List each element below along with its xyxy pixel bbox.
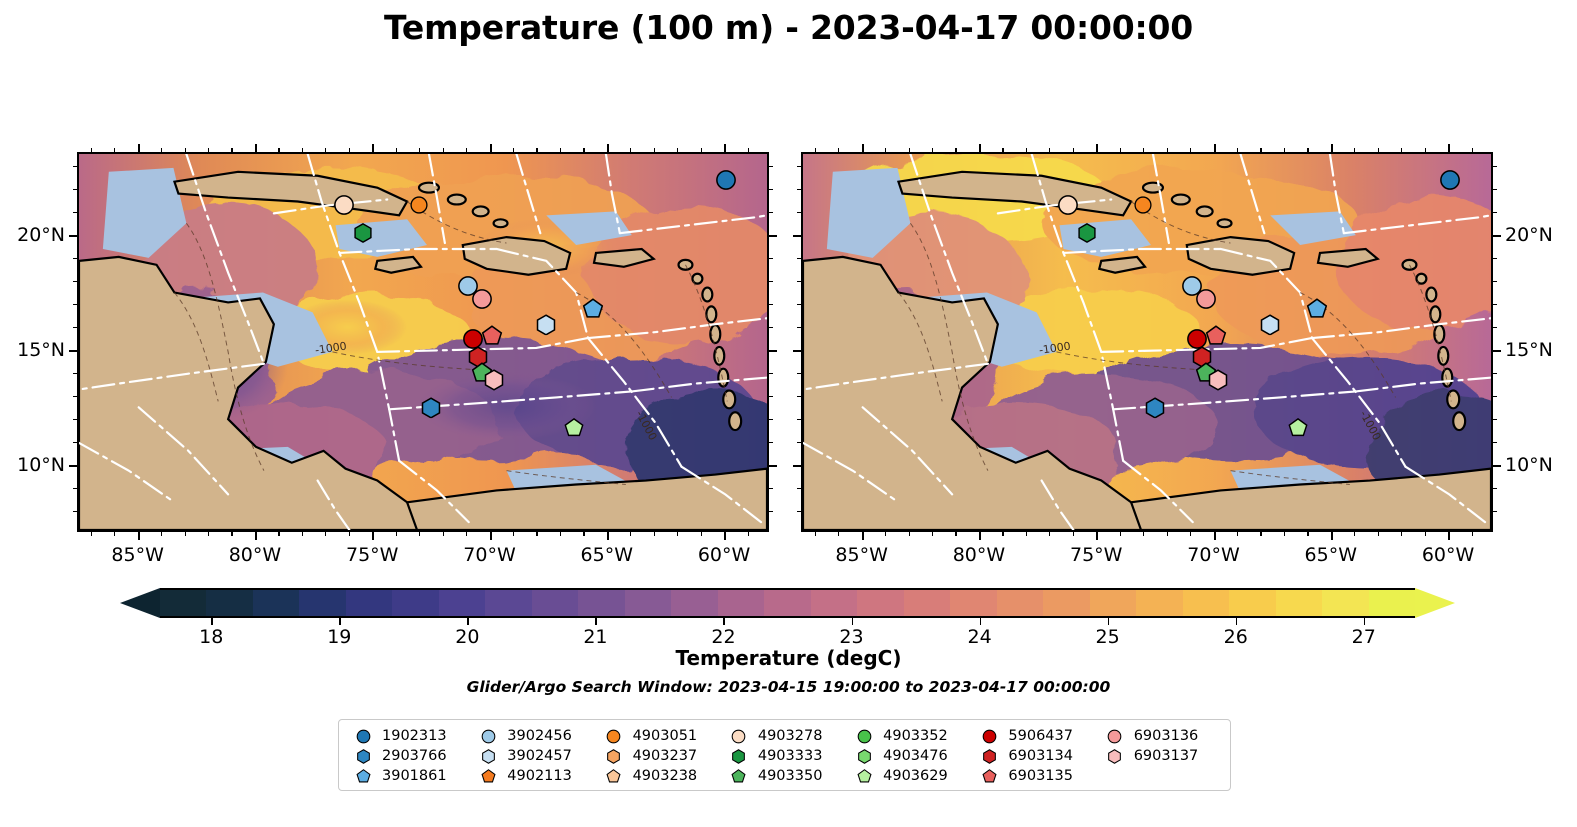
x-tick (1096, 144, 1098, 152)
float-marker-4903333[interactable] (1077, 222, 1097, 246)
legend-label: 5906437 (1008, 728, 1073, 744)
float-marker-4903278[interactable] (1057, 194, 1079, 220)
colorbar-tick-label: 24 (967, 626, 991, 648)
colorbar-extend-high (1415, 588, 1455, 618)
x-tick-minor (1049, 148, 1050, 152)
y-tick-minor (797, 304, 801, 305)
y-tick-minor (797, 488, 801, 489)
legend-label: 4902113 (507, 768, 572, 784)
legend-column: 490335249034764903629 (854, 726, 979, 786)
map-canvas-amseas: -1000 -1000 (803, 154, 1491, 530)
y-tick (769, 235, 777, 237)
map-canvas-rtofs: -1000 -1000 (79, 154, 767, 530)
x-tick-minor (443, 148, 444, 152)
x-tick-minor (654, 148, 655, 152)
y-tick (69, 235, 77, 237)
x-tick (372, 532, 374, 540)
x-axis-label: 70°W (463, 544, 515, 566)
float-legend: 1902313290376639018613902456390245749021… (338, 719, 1231, 791)
colorbar-segment (1322, 590, 1368, 616)
legend-entry-4903476[interactable]: 4903476 (854, 746, 979, 766)
colorbar-tick (339, 618, 341, 625)
x-axis-label: 80°W (229, 544, 281, 566)
colorbar-tick-label: 18 (199, 626, 223, 648)
x-tick-minor (302, 148, 303, 152)
x-tick-minor (1167, 532, 1168, 536)
x-tick (1214, 532, 1216, 540)
x-tick-minor (955, 532, 956, 536)
y-tick-minor (797, 419, 801, 420)
y-tick-minor (769, 212, 773, 213)
x-tick (607, 532, 609, 540)
x-tick-minor (349, 532, 350, 536)
y-tick (793, 465, 801, 467)
y-tick-minor (769, 281, 773, 282)
x-tick-minor (1401, 532, 1402, 536)
x-tick (372, 144, 374, 152)
y-tick-minor (73, 281, 77, 282)
x-tick-minor (955, 148, 956, 152)
x-tick (138, 532, 140, 540)
x-tick-minor (1002, 532, 1003, 536)
x-tick-minor (208, 148, 209, 152)
legend-marker-hexagon-icon (1105, 747, 1125, 765)
x-tick-minor (91, 148, 92, 152)
x-axis-label: 80°W (953, 544, 1005, 566)
float-marker-4903051[interactable] (1134, 196, 1153, 219)
colorbar-segment (1229, 590, 1275, 616)
x-tick (255, 144, 257, 152)
y-tick-minor (1493, 396, 1497, 397)
x-tick (1448, 144, 1450, 152)
x-tick-minor (1026, 148, 1027, 152)
x-tick (724, 144, 726, 152)
colorbar-tick (1236, 618, 1238, 625)
float-marker-3902457[interactable] (1259, 314, 1281, 340)
x-tick-minor (536, 532, 537, 536)
colorbar-segment (904, 590, 950, 616)
legend-marker-pentagon-icon (854, 767, 874, 785)
y-tick-minor (1493, 419, 1497, 420)
y-tick-minor (1493, 488, 1497, 489)
y-tick (793, 350, 801, 352)
x-tick-minor (583, 532, 584, 536)
legend-column: 490305149032374903238 (604, 726, 729, 786)
x-tick-minor (748, 532, 749, 536)
x-tick-minor (536, 148, 537, 152)
x-tick (724, 532, 726, 540)
colorbar-tick-label: 26 (1224, 626, 1248, 648)
y-tick-minor (1493, 166, 1497, 167)
float-marker-2903766[interactable] (1144, 397, 1166, 423)
legend-label: 6903137 (1134, 748, 1199, 764)
float-marker-4903278[interactable] (333, 194, 355, 220)
x-tick-minor (278, 532, 279, 536)
y-tick-minor (73, 189, 77, 190)
x-axis-label: 85°W (835, 544, 887, 566)
x-tick-minor (513, 148, 514, 152)
map-panel-rtofs[interactable]: RTOFS (77, 152, 769, 532)
x-axis-label: 75°W (1070, 544, 1122, 566)
x-tick (979, 532, 981, 540)
legend-entry-3901861[interactable]: 3901861 (353, 766, 478, 786)
colorbar-segment (1090, 590, 1136, 616)
colorbar-segment (206, 590, 252, 616)
legend-entry-4903237[interactable]: 4903237 (604, 746, 729, 766)
x-axis-label: 60°W (698, 544, 750, 566)
y-tick-minor (797, 442, 801, 443)
colorbar-tick (595, 618, 597, 625)
legend-column: 190231329037663901861 (353, 726, 478, 786)
float-marker-4903051[interactable] (410, 196, 429, 219)
float-marker-6903136[interactable] (472, 289, 494, 315)
float-marker-3901861[interactable] (582, 298, 604, 324)
legend-label: 3902456 (507, 728, 572, 744)
y-tick-minor (769, 327, 773, 328)
colorbar-segment (439, 590, 485, 616)
legend-marker-hexagon-icon (729, 747, 749, 765)
x-axis-label: 65°W (1305, 544, 1357, 566)
x-axis-label: 85°W (111, 544, 163, 566)
colorbar-segment (392, 590, 438, 616)
x-tick-minor (1073, 532, 1074, 536)
legend-label: 4903352 (883, 728, 948, 744)
colorbar-segment (1183, 590, 1229, 616)
legend-label: 3901861 (382, 768, 447, 784)
y-tick-minor (1493, 281, 1497, 282)
float-marker-6903137[interactable] (1207, 369, 1229, 395)
y-tick-minor (73, 304, 77, 305)
x-tick-minor (91, 532, 92, 536)
colorbar-extend-low (120, 588, 160, 618)
legend-label: 4903237 (633, 748, 698, 764)
y-tick-minor (797, 258, 801, 259)
x-tick-minor (1378, 532, 1379, 536)
map-panel-amseas[interactable]: AMSEAS (801, 152, 1493, 532)
legend-entry-6903136[interactable]: 6903136 (1105, 726, 1230, 746)
legend-marker-circle-icon (979, 727, 999, 745)
legend-marker-circle-icon (1105, 727, 1125, 745)
colorbar-tick (467, 618, 469, 625)
legend-marker-circle-icon (353, 727, 373, 745)
x-tick-minor (1190, 148, 1191, 152)
colorbar-tick (723, 618, 725, 625)
x-tick-minor (885, 148, 886, 152)
legend-entry-6903137[interactable]: 6903137 (1105, 746, 1230, 766)
y-tick-minor (73, 327, 77, 328)
x-tick-minor (1143, 532, 1144, 536)
legend-entry-6903135[interactable]: 6903135 (979, 766, 1104, 786)
legend-entry-4903350[interactable]: 4903350 (729, 766, 854, 786)
colorbar-tick-label: 20 (455, 626, 479, 648)
legend-entry-2903766[interactable]: 2903766 (353, 746, 478, 766)
colorbar-segment (485, 590, 531, 616)
legend-entry-5906437[interactable]: 5906437 (979, 726, 1104, 746)
x-tick-minor (885, 532, 886, 536)
x-tick-minor (231, 148, 232, 152)
x-tick-minor (701, 532, 702, 536)
x-tick (862, 532, 864, 540)
y-axis-label-left: 20°N (17, 224, 65, 246)
x-tick-minor (630, 532, 631, 536)
y-tick (69, 465, 77, 467)
x-tick (862, 144, 864, 152)
x-tick-minor (630, 148, 631, 152)
x-tick-minor (466, 532, 467, 536)
x-tick-minor (1237, 532, 1238, 536)
colorbar-segment (811, 590, 857, 616)
x-tick-minor (278, 148, 279, 152)
x-tick-minor (161, 148, 162, 152)
y-axis-label-right: 20°N (1505, 224, 1553, 246)
y-tick (69, 350, 77, 352)
x-tick-minor (325, 148, 326, 152)
legend-marker-hexagon-icon (478, 747, 498, 765)
legend-column: 390245639024574902113 (478, 726, 603, 786)
float-marker-6903136[interactable] (1196, 289, 1218, 315)
x-tick-minor (1378, 148, 1379, 152)
legend-label: 6903134 (1008, 748, 1073, 764)
legend-marker-circle-icon (729, 727, 749, 745)
x-tick-minor (1260, 532, 1261, 536)
legend-marker-circle-icon (604, 727, 624, 745)
x-tick-minor (560, 148, 561, 152)
x-tick-minor (185, 532, 186, 536)
y-tick-minor (797, 373, 801, 374)
float-marker-2903766[interactable] (420, 397, 442, 423)
legend-entry-6903134[interactable]: 6903134 (979, 746, 1104, 766)
legend-label: 6903135 (1008, 768, 1073, 784)
search-window-text: Glider/Argo Search Window: 2023-04-15 19… (0, 678, 1577, 696)
float-marker-1902313[interactable] (716, 169, 738, 195)
y-tick-minor (1493, 258, 1497, 259)
x-tick-minor (1190, 532, 1191, 536)
y-tick-minor (73, 488, 77, 489)
x-tick-minor (325, 532, 326, 536)
x-tick-minor (1120, 532, 1121, 536)
legend-label: 6903136 (1134, 728, 1199, 744)
x-tick-minor (1049, 532, 1050, 536)
legend-entry-4902113[interactable]: 4902113 (478, 766, 603, 786)
legend-label: 4903350 (758, 768, 823, 784)
x-tick-minor (815, 148, 816, 152)
float-marker-3902457[interactable] (535, 314, 557, 340)
colorbar-segment (671, 590, 717, 616)
y-tick-minor (769, 189, 773, 190)
y-tick-minor (73, 258, 77, 259)
x-tick-minor (932, 532, 933, 536)
y-tick-minor (797, 189, 801, 190)
x-tick (255, 532, 257, 540)
x-tick-minor (1284, 532, 1285, 536)
x-axis-label: 65°W (581, 544, 633, 566)
x-tick-minor (1167, 148, 1168, 152)
legend-label: 4903476 (883, 748, 948, 764)
legend-marker-pentagon-icon (478, 767, 498, 785)
legend-entry-1902313[interactable]: 1902313 (353, 726, 478, 746)
colorbar-segment (1043, 590, 1089, 616)
float-marker-4903629[interactable] (1288, 418, 1308, 442)
x-tick-minor (161, 532, 162, 536)
y-axis-label-right: 10°N (1505, 454, 1553, 476)
colorbar-segment (299, 590, 345, 616)
y-tick (1493, 465, 1501, 467)
x-tick-minor (208, 532, 209, 536)
x-tick-minor (815, 532, 816, 536)
y-tick (769, 350, 777, 352)
y-tick-minor (797, 281, 801, 282)
colorbar-segment (718, 590, 764, 616)
x-tick-minor (1472, 148, 1473, 152)
legend-entry-4903238[interactable]: 4903238 (604, 766, 729, 786)
x-tick-minor (302, 532, 303, 536)
y-tick-minor (1493, 373, 1497, 374)
y-tick-minor (769, 258, 773, 259)
y-tick-minor (769, 304, 773, 305)
colorbar-segment (1136, 590, 1182, 616)
float-marker-4903333[interactable] (353, 222, 373, 246)
x-tick-minor (1073, 148, 1074, 152)
x-tick-minor (583, 148, 584, 152)
y-tick-minor (797, 166, 801, 167)
x-tick-minor (1143, 148, 1144, 152)
colorbar-tick-label: 19 (327, 626, 351, 648)
y-tick-minor (769, 419, 773, 420)
y-axis-label-left: 10°N (17, 454, 65, 476)
y-tick-minor (73, 396, 77, 397)
legend-label: 4903629 (883, 768, 948, 784)
colorbar-segment (997, 590, 1043, 616)
y-tick-minor (1493, 327, 1497, 328)
x-axis-label: 70°W (1187, 544, 1239, 566)
y-tick-minor (769, 166, 773, 167)
x-tick-minor (932, 148, 933, 152)
x-tick (607, 144, 609, 152)
y-tick-minor (1493, 511, 1497, 512)
y-tick-minor (1493, 189, 1497, 190)
colorbar-segment (764, 590, 810, 616)
legend-entry-4903051[interactable]: 4903051 (604, 726, 729, 746)
x-tick-minor (838, 532, 839, 536)
x-tick (1096, 532, 1098, 540)
colorbar-tick-label: 21 (583, 626, 607, 648)
legend-entry-3902457[interactable]: 3902457 (478, 746, 603, 766)
y-tick (1493, 350, 1501, 352)
legend-label: 4903051 (633, 728, 698, 744)
legend-column: 69031366903137 (1105, 726, 1230, 766)
x-tick (490, 144, 492, 152)
x-tick-minor (1425, 532, 1426, 536)
x-tick (1448, 532, 1450, 540)
legend-entry-4903629[interactable]: 4903629 (854, 766, 979, 786)
colorbar-segment (950, 590, 996, 616)
legend-marker-pentagon-icon (979, 767, 999, 785)
legend-marker-hexagon-icon (979, 747, 999, 765)
y-tick-minor (73, 442, 77, 443)
x-tick-minor (114, 532, 115, 536)
legend-label: 3902457 (507, 748, 572, 764)
x-tick-minor (1425, 148, 1426, 152)
page-title: Temperature (100 m) - 2023-04-17 00:00:0… (0, 8, 1577, 47)
y-tick-minor (797, 212, 801, 213)
x-tick-minor (114, 148, 115, 152)
legend-entry-4903278[interactable]: 4903278 (729, 726, 854, 746)
colorbar-tick-label: 25 (1096, 626, 1120, 648)
legend-label: 4903278 (758, 728, 823, 744)
y-tick (793, 235, 801, 237)
legend-marker-hexagon-icon (604, 747, 624, 765)
x-tick-minor (560, 532, 561, 536)
x-tick-minor (654, 532, 655, 536)
y-tick-minor (797, 511, 801, 512)
y-tick-minor (769, 488, 773, 489)
x-tick-minor (1307, 148, 1308, 152)
float-marker-6903137[interactable] (483, 369, 505, 395)
x-tick-minor (748, 148, 749, 152)
colorbar-tick-label: 23 (839, 626, 863, 648)
y-tick-minor (73, 373, 77, 374)
colorbar-segment (625, 590, 671, 616)
y-tick-minor (769, 373, 773, 374)
colorbar-segment (346, 590, 392, 616)
x-tick-minor (419, 532, 420, 536)
x-tick (1331, 532, 1333, 540)
x-tick-minor (396, 532, 397, 536)
colorbar-segment (160, 590, 206, 616)
legend-column: 590643769031346903135 (979, 726, 1104, 786)
float-marker-4903629[interactable] (564, 418, 584, 442)
x-tick-minor (349, 148, 350, 152)
x-tick-minor (1284, 148, 1285, 152)
float-marker-1902313[interactable] (1440, 169, 1462, 195)
y-tick-minor (73, 166, 77, 167)
x-tick-minor (466, 148, 467, 152)
legend-label: 2903766 (382, 748, 447, 764)
y-tick-minor (1493, 212, 1497, 213)
x-tick-minor (443, 532, 444, 536)
legend-marker-pentagon-icon (353, 767, 373, 785)
colorbar-segment (253, 590, 299, 616)
colorbar-segment (857, 590, 903, 616)
legend-marker-hexagon-icon (353, 747, 373, 765)
legend-entry-4903333[interactable]: 4903333 (729, 746, 854, 766)
x-tick-minor (1260, 148, 1261, 152)
y-axis-label-left: 15°N (17, 339, 65, 361)
colorbar-segment (532, 590, 578, 616)
legend-label: 4903238 (633, 768, 698, 784)
y-tick-minor (797, 327, 801, 328)
legend-marker-pentagon-icon (729, 767, 749, 785)
colorbar-tick (1364, 618, 1366, 625)
legend-entry-3902456[interactable]: 3902456 (478, 726, 603, 746)
legend-entry-4903352[interactable]: 4903352 (854, 726, 979, 746)
x-axis-label: 75°W (346, 544, 398, 566)
x-tick-minor (396, 148, 397, 152)
y-tick-minor (73, 511, 77, 512)
x-tick-minor (677, 148, 678, 152)
colorbar-gradient (160, 588, 1415, 618)
x-tick-minor (909, 148, 910, 152)
float-marker-3901861[interactable] (1306, 298, 1328, 324)
x-axis-label: 60°W (1422, 544, 1474, 566)
x-tick-minor (677, 532, 678, 536)
colorbar-segment (578, 590, 624, 616)
x-tick-minor (1307, 532, 1308, 536)
y-tick-minor (797, 396, 801, 397)
x-tick-minor (1120, 148, 1121, 152)
x-tick-minor (231, 532, 232, 536)
y-tick-minor (769, 442, 773, 443)
